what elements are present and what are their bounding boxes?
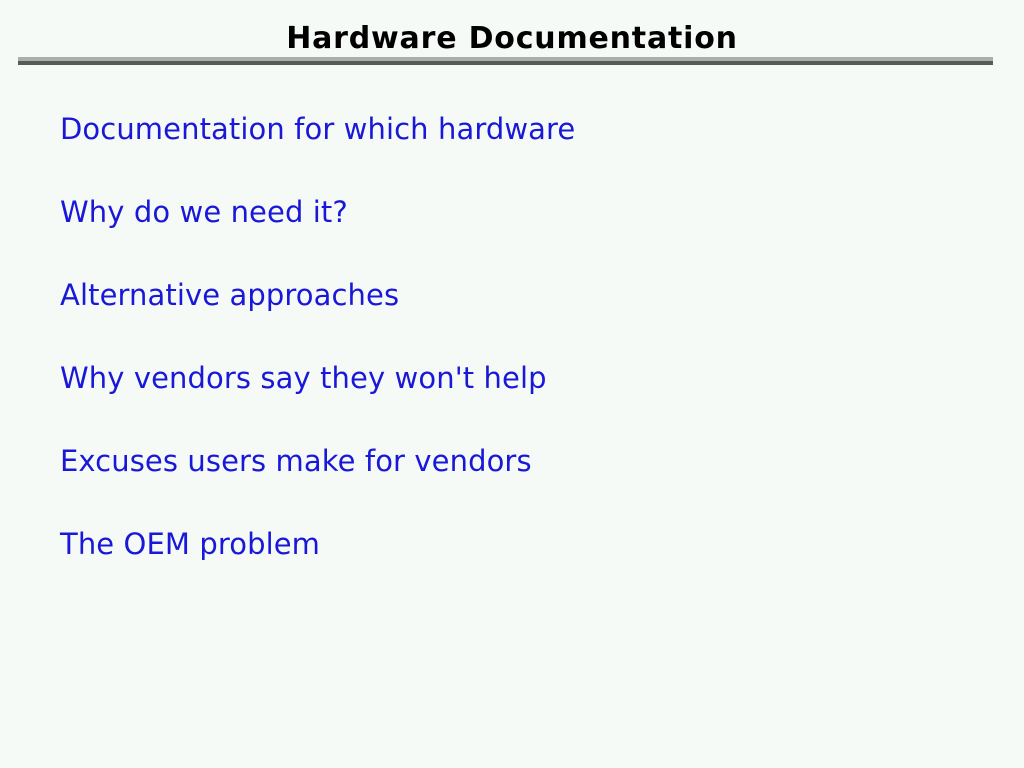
list-item: Alternative approaches	[60, 276, 990, 359]
list-item: Documentation for which hardware	[60, 110, 990, 193]
title-divider	[18, 57, 993, 65]
page-title: Hardware Documentation	[0, 21, 1024, 57]
divider-dark-band	[18, 61, 993, 65]
list-item: The OEM problem	[60, 525, 990, 608]
slide-bullet-list: Documentation for which hardware Why do …	[60, 110, 990, 608]
list-item: Excuses users make for vendors	[60, 442, 990, 525]
list-item: Why do we need it?	[60, 193, 990, 276]
presentation-slide: Hardware Documentation Documentation for…	[0, 0, 1024, 768]
list-item: Why vendors say they won't help	[60, 359, 990, 442]
